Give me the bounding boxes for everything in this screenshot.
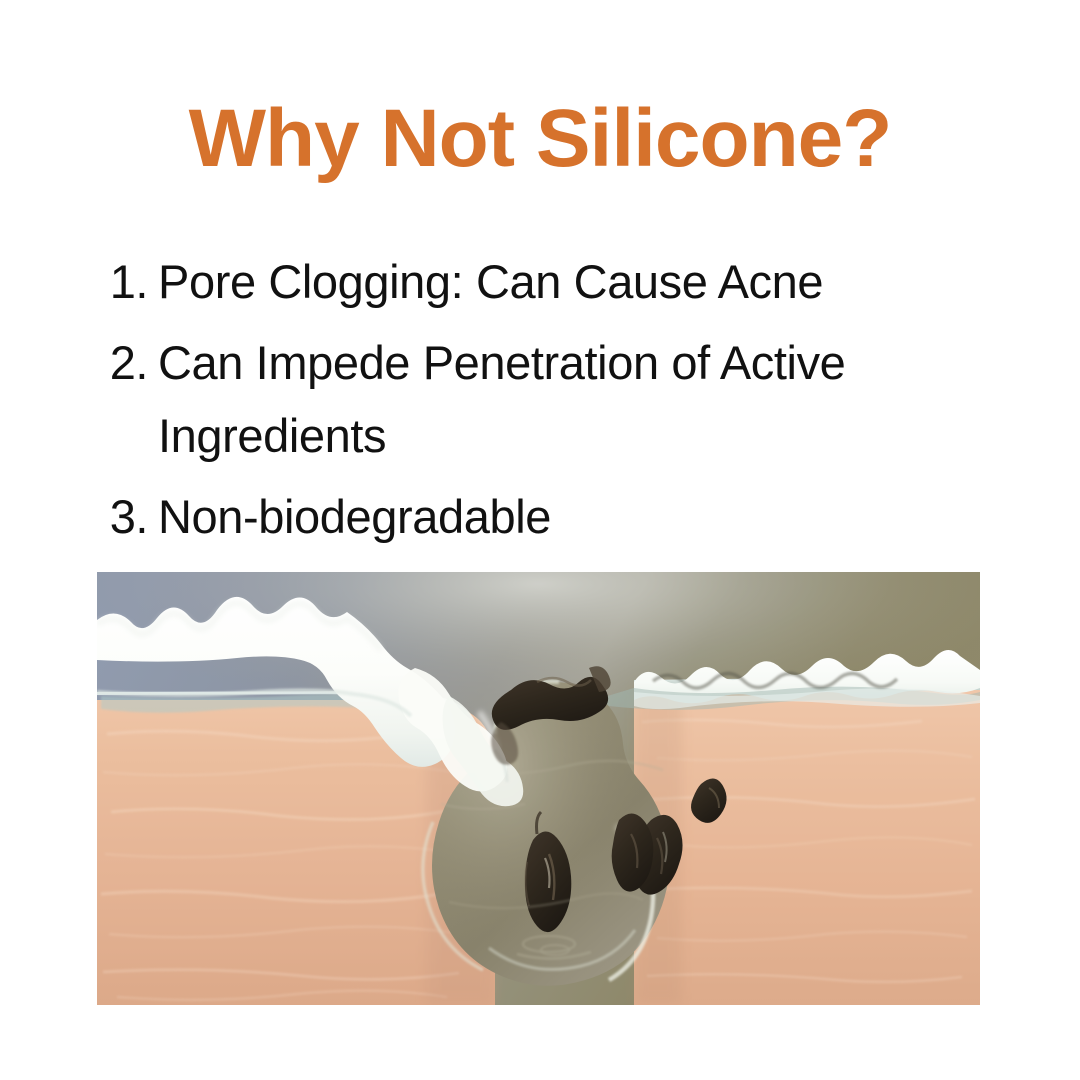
- skin-cross-section-graphic: [97, 572, 980, 1005]
- list-item: 2. Can Impede Penetration of Active Ingr…: [96, 327, 996, 473]
- list-item-number: 3.: [96, 481, 148, 554]
- list-item: 1. Pore Clogging: Can Cause Acne: [96, 246, 996, 319]
- slide-canvas: Why Not Silicone? 1. Pore Clogging: Can …: [0, 0, 1080, 1080]
- list-item-number: 2.: [96, 327, 148, 400]
- reasons-list: 1. Pore Clogging: Can Cause Acne 2. Can …: [96, 246, 996, 561]
- skin-cross-section-image: [97, 572, 980, 1005]
- page-title: Why Not Silicone?: [0, 96, 1080, 182]
- list-item-label: Can Impede Penetration of Active Ingredi…: [148, 327, 948, 473]
- list-item-number: 1.: [96, 246, 148, 319]
- list-item-label: Non-biodegradable: [148, 481, 948, 554]
- list-item: 3. Non-biodegradable: [96, 481, 996, 554]
- list-item-label: Pore Clogging: Can Cause Acne: [148, 246, 948, 319]
